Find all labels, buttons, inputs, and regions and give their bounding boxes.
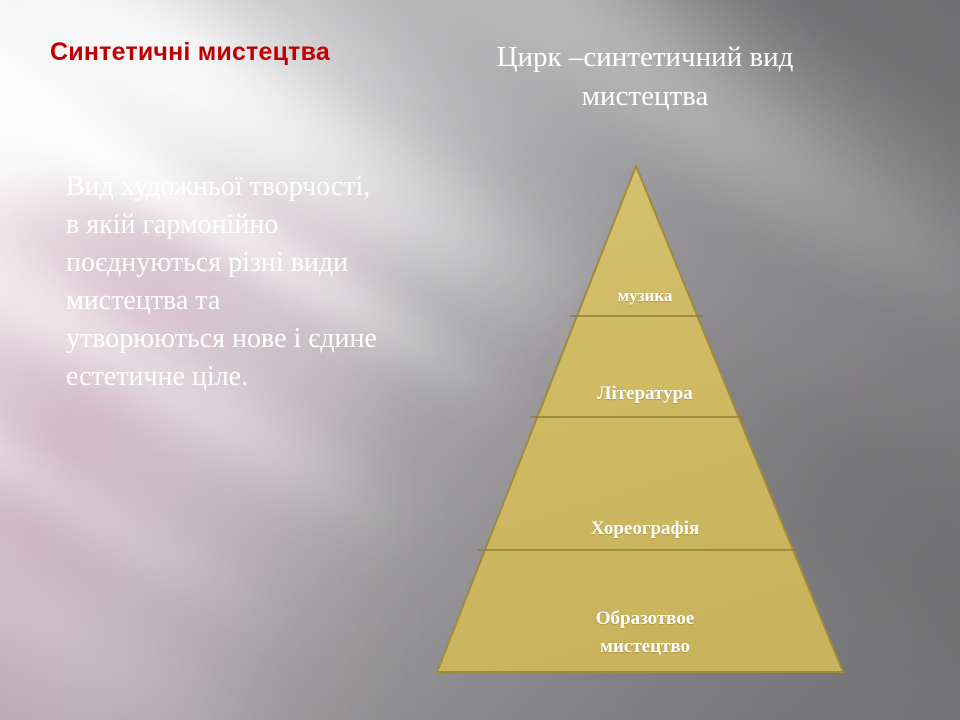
pyramid-body xyxy=(437,166,843,672)
left-heading: Синтетичні мистецтва xyxy=(40,36,340,68)
pyramid-shape xyxy=(420,150,870,695)
left-body-text: Вид художньої творчості, в якій гармоній… xyxy=(66,168,386,396)
presentation-slide: Синтетичні мистецтва Вид художньої творч… xyxy=(0,0,960,720)
pyramid-diagram: музика Література Хореографія Образотвое… xyxy=(420,150,870,695)
right-heading: Цирк –синтетичний вид мистецтва xyxy=(430,38,860,115)
